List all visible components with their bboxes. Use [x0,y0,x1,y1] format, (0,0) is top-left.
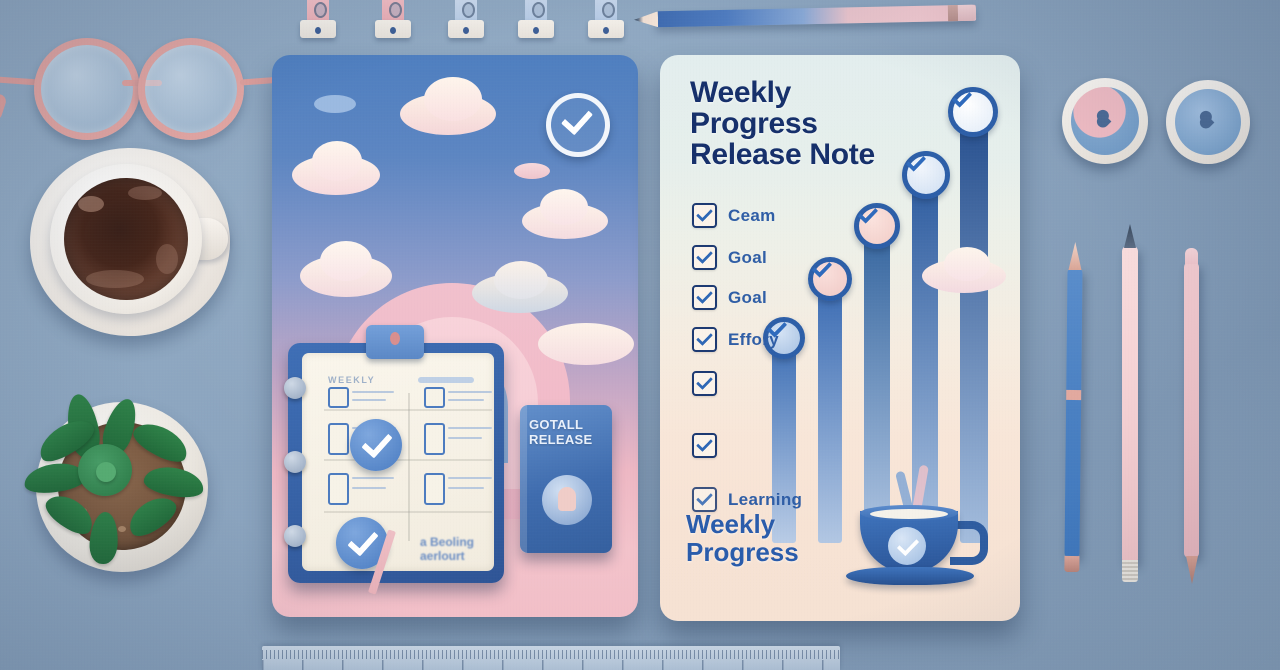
pen-tip-icon [1068,242,1081,270]
cloud-icon [514,163,550,179]
chart-bar-badge-check-icon [902,151,950,199]
measuring-ruler [262,646,840,670]
check-circle-icon [546,93,610,157]
chart-bar [960,117,988,543]
checkbox-icon[interactable] [692,327,717,352]
notebook-header-rule [418,377,474,383]
dish-blue-heart [1166,80,1250,164]
booklet-title: GOTALL RELEASE [529,417,605,447]
checklist-label: Ceam [728,206,776,226]
notebook[interactable]: WEEKLY [288,343,504,583]
check-circle-icon [888,527,926,565]
notebook-checkbox[interactable] [328,423,349,455]
cloud-icon [494,261,548,299]
notebook-ring [284,377,306,399]
checklist-label: Effory [728,330,779,350]
notebook-checkbox[interactable] [424,473,445,505]
chart-bar-badge-check-icon [808,257,852,301]
pencil-tip [634,11,658,27]
pencil-tip-icon [1124,224,1136,248]
clip-2 [375,0,411,38]
pink-pen [1184,262,1199,558]
notebook-ring [284,451,306,473]
checklist-item[interactable] [692,433,728,458]
notebook-ring [284,525,306,547]
booklet-emblem-icon [542,475,592,525]
chart-bar [818,281,842,543]
coffee-cup-saucer [22,140,240,340]
ruler-minor-ticks [262,650,840,659]
glasses-lens-right [138,38,244,140]
checklist-label: Learning [728,490,802,510]
checklist-item[interactable]: Ceam [692,203,776,228]
notebook-checkbox[interactable] [328,387,349,408]
notebook-check-badge [350,419,402,471]
coffee-liquid [64,178,188,300]
notebook-page: WEEKLY [302,353,494,571]
checklist-item[interactable] [692,371,728,396]
footer-heading: Weekly Progress [686,510,799,566]
notebook-clip[interactable] [366,325,424,359]
cloud-icon [424,77,482,121]
pen-end-cap [1064,556,1079,572]
cloud-icon [314,95,356,113]
glasses-ear-hook [0,92,8,121]
checkbox-icon[interactable] [692,371,717,396]
clip-1 [300,0,336,38]
weekly-planner-illustration-card[interactable]: WEEKLY [272,55,638,617]
notebook-checkbox[interactable] [328,473,349,505]
notebook-handwriting: a Beoling aerlourt [420,535,474,563]
cloud-icon [312,141,362,181]
coffee-cup-illustration [850,499,978,591]
pen-tip-icon [1186,556,1198,584]
chart-bar-badge-check-icon [854,203,900,249]
checklist-label: Goal [728,288,767,308]
cloud-icon [540,189,588,225]
pen-accent-band [1066,390,1081,400]
checkbox-icon[interactable] [692,203,717,228]
dish-pink-heart [1062,78,1148,164]
checklist-item[interactable]: Goal [692,245,767,270]
goal-release-booklet[interactable]: GOTALL RELEASE [520,405,612,553]
blue-pen [1064,268,1082,558]
page-title: Weekly Progress Release Note [690,77,875,170]
checklist-item[interactable]: Effory [692,327,779,352]
glasses-lens-left [34,38,140,140]
cloud-icon [320,241,372,281]
round-eyeglasses [34,38,244,128]
clip-3 [448,0,484,38]
clip-4 [518,0,554,38]
clip-5 [588,0,624,38]
pencil-eraser-grip [1122,560,1138,582]
notebook-checkbox[interactable] [424,423,445,455]
notebook-checkbox[interactable] [424,387,445,408]
checkbox-icon[interactable] [692,245,717,270]
cloud-icon [944,247,990,281]
plant-leaf-core [96,462,116,482]
checklist-item[interactable]: Goal [692,285,767,310]
pencil-eraser [958,5,976,21]
chart-bar-badge-check-icon [948,87,998,137]
checklist-label: Goal [728,248,767,268]
pen-cap-icon [1185,248,1198,264]
pink-pencil [1122,246,1138,564]
weekly-progress-release-note-card[interactable]: Weekly Progress Release Note Ceam Goal [660,55,1020,621]
checkbox-icon[interactable] [692,285,717,310]
gradient-pencil [656,5,976,28]
succulent-plant [14,392,220,588]
notebook-header-label: WEEKLY [328,375,375,385]
booklet-spine [520,405,527,553]
cloud-icon [538,323,634,365]
desk-scene: WEEKLY [0,0,1280,670]
checkbox-icon[interactable] [692,433,717,458]
saucer [846,567,974,585]
ruler-major-ticks [262,660,840,670]
cup-liquid [870,509,948,519]
chart-bar [864,229,890,543]
pencil-ferrule [948,5,958,21]
